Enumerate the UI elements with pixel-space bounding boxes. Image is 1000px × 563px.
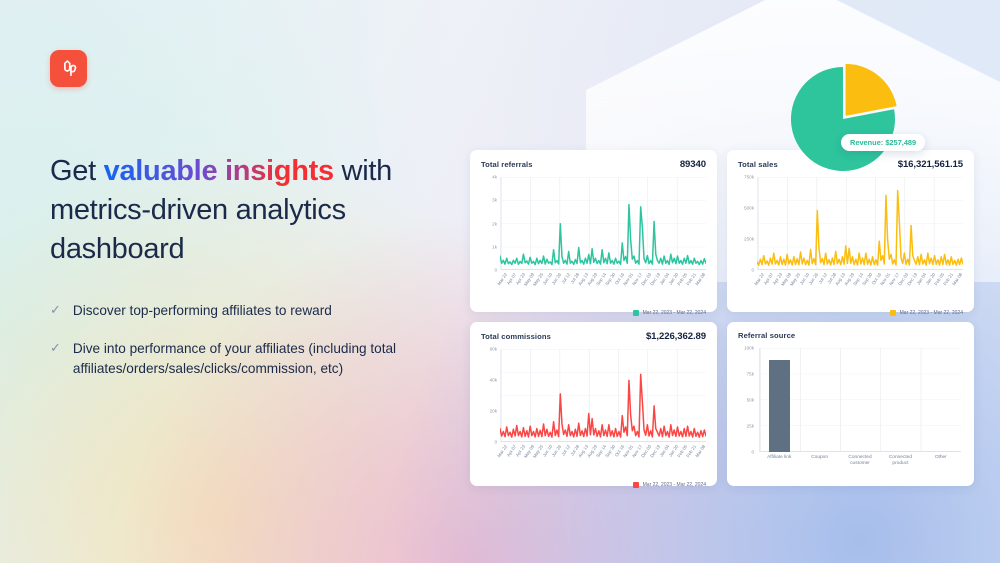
list-item: ✓ Dive into performance of your affiliat… [50,339,450,380]
chart-legend: Mar 22, 2023 - Mar 22, 2024 [481,482,706,488]
card-header: Referral source [738,331,963,340]
y-tick-label: 0 [494,268,497,273]
y-tick-label: 4k [492,175,497,180]
y-tick-label: 0 [751,268,754,273]
y-axis: 100k75k50k25k0 [738,348,755,452]
y-tick-label: 75k [747,372,754,377]
card-title: Total sales [738,160,778,169]
bullet-text: Dive into performance of your affiliates… [73,339,450,380]
bar-cell[interactable] [921,348,961,452]
bullet-text: Discover top-performing affiliates to re… [73,301,332,321]
legend-label: Mar 22, 2023 - Mar 22, 2024 [643,482,706,488]
y-tick-label: 20k [490,409,497,414]
card-title: Referral source [738,331,795,340]
chart-series [757,177,963,270]
bar-cell[interactable] [759,348,799,452]
bar-chart-referral-source: 100k75k50k25k0 [738,348,963,452]
y-axis: 750k500k250k0 [738,177,755,270]
pie-slices [784,60,902,178]
line-chart-commissions: 60k40k20k0 [481,349,706,442]
analytics-dashboard: Total referrals 89340 4k3k2k1k0 Mar 22Ap… [470,150,974,486]
card-header: Total referrals 89340 [481,159,706,170]
headline-part1: Get [50,155,104,187]
card-header: Total commissions $1,226,362.89 [481,331,706,342]
chart-legend: Mar 22, 2023 - Mar 22, 2024 [738,310,963,316]
card-referral-source[interactable]: Referral source 100k75k50k25k0 Affiliate… [727,322,974,486]
hero-copy: Get valuable insights with metrics-drive… [50,152,450,398]
bar[interactable] [769,360,790,452]
y-tick-label: 500k [744,206,754,211]
chart-series [500,177,706,270]
legend-swatch [890,310,896,316]
y-tick-label: 100k [744,346,754,351]
bar-category-label: Connected customer [840,455,880,467]
card-total-commissions[interactable]: Total commissions $1,226,362.89 60k40k20… [470,322,717,486]
y-tick-label: 1k [492,244,497,249]
y-tick-label: 40k [490,378,497,383]
y-tick-label: 2k [492,221,497,226]
legend-swatch [633,310,639,316]
bar-category-label: Affiliate link [759,455,799,467]
chart-tooltip: Revenue: $257,489 [841,134,925,151]
card-value: $1,226,362.89 [646,331,706,342]
y-axis: 60k40k20k0 [481,349,498,442]
x-axis: Mar 22Apr 07Apr 23May 09May 25Jun 10Jun … [500,270,706,308]
y-tick-label: 25k [747,424,754,429]
bar-cell[interactable] [840,348,880,452]
y-tick-label: 0 [494,440,497,445]
up-arrow-logo-icon [59,59,78,78]
legend-label: Mar 22, 2023 - Mar 22, 2024 [643,310,706,316]
y-tick-label: 0 [751,450,754,455]
legend-label: Mar 22, 2023 - Mar 22, 2024 [900,310,963,316]
card-value: $16,321,561.15 [898,159,963,170]
bar-category-label: Other [921,455,961,467]
line-chart-referrals: 4k3k2k1k0 [481,177,706,270]
check-icon: ✓ [50,339,61,380]
chart-legend: Mar 22, 2023 - Mar 22, 2024 [481,310,706,316]
line-chart-sales: 750k500k250k0 [738,177,963,270]
y-axis: 4k3k2k1k0 [481,177,498,270]
card-total-referrals[interactable]: Total referrals 89340 4k3k2k1k0 Mar 22Ap… [470,150,717,312]
pie-chart-revenue[interactable] [784,60,902,178]
bar-cell[interactable] [799,348,839,452]
bar-cell[interactable] [880,348,920,452]
bullet-list: ✓ Discover top-performing affiliates to … [50,301,450,380]
y-tick-label: 750k [744,175,754,180]
bar-category-label: Coupon [799,455,839,467]
chart-bars [759,348,961,452]
y-tick-label: 50k [747,398,754,403]
y-tick-label: 3k [492,198,497,203]
x-axis: Mar 22Apr 07Apr 23May 09May 25Jun 10Jun … [500,442,706,480]
x-axis: Affiliate linkCouponConnected customerCo… [759,455,961,467]
bar-category-label: Connected product [880,455,920,467]
card-value: 89340 [680,159,706,170]
y-tick-label: 250k [744,237,754,242]
legend-swatch [633,482,639,488]
check-icon: ✓ [50,301,61,321]
page-title: Get valuable insights with metrics-drive… [50,152,450,269]
brand-logo[interactable] [50,50,87,87]
list-item: ✓ Discover top-performing affiliates to … [50,301,450,321]
x-axis: Mar 22Apr 07Apr 23May 09May 25Jun 10Jun … [757,270,963,308]
card-title: Total commissions [481,332,551,341]
card-title: Total referrals [481,160,533,169]
y-tick-label: 60k [490,347,497,352]
headline-highlight: valuable insights [104,155,334,187]
chart-series [500,349,706,442]
